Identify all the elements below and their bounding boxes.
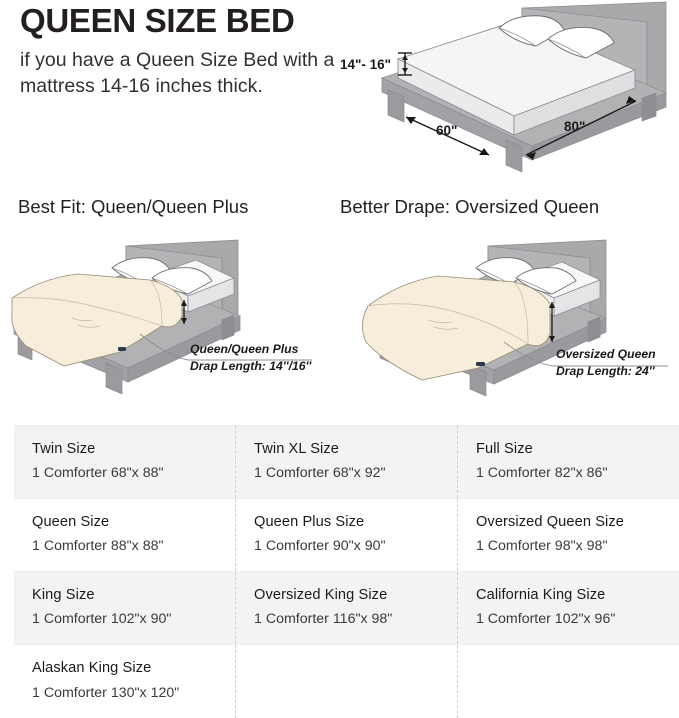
size-table-body: Twin Size 1 Comforter 68"x 88" Twin XL S… [14,426,679,718]
table-cell: Twin Size 1 Comforter 68"x 88" [14,426,236,499]
thickness-label: 14"- 16" [340,57,391,72]
size-detail: 1 Comforter 102"x 96" [476,608,679,630]
table-cell: Full Size 1 Comforter 82"x 86" [457,426,679,499]
length-label: 80" [564,119,585,134]
table-cell: Twin XL Size 1 Comforter 68"x 92" [236,426,458,499]
size-name: Queen Plus Size [254,512,457,533]
header-text: QUEEN SIZE BED if you have a Queen Size … [20,4,340,99]
size-detail: 1 Comforter 90"x 90" [254,535,457,557]
size-name: California King Size [476,585,679,606]
table-row: Alaskan King Size 1 Comforter 130"x 120" [14,645,679,718]
size-detail: 1 Comforter 88"x 88" [32,535,235,557]
size-detail: 1 Comforter 82"x 86" [476,462,679,484]
best-fit-bed-diagram: Queen/Queen Plus Drap Length: 14''/16'' [0,234,340,412]
size-name: Oversized King Size [254,585,457,606]
size-name: Full Size [476,439,679,460]
table-cell-empty [236,645,458,718]
table-cell: King Size 1 Comforter 102"x 90" [14,572,236,645]
page-title: QUEEN SIZE BED [20,4,340,39]
size-name: Alaskan King Size [32,658,235,679]
table-cell: Alaskan King Size 1 Comforter 130"x 120" [14,645,236,718]
comforter-size-table: Twin Size 1 Comforter 68"x 88" Twin XL S… [14,425,679,718]
table-cell: Oversized King Size 1 Comforter 116"x 98… [236,572,458,645]
callout-line-2: Drap Length: 24'' [556,364,656,378]
table-cell: Oversized Queen Size 1 Comforter 98"x 98… [457,499,679,572]
size-name: Twin XL Size [254,439,457,460]
size-name: Queen Size [32,512,235,533]
heading-best-fit: Best Fit: Queen/Queen Plus [18,196,248,218]
table-row: King Size 1 Comforter 102"x 90" Oversize… [14,572,679,645]
size-name: Twin Size [32,439,235,460]
table-row: Queen Size 1 Comforter 88"x 88" Queen Pl… [14,499,679,572]
table-cell: Queen Plus Size 1 Comforter 90"x 90" [236,499,458,572]
size-name: King Size [32,585,235,606]
queen-bed-dimensions-diagram: 14"- 16" 60" 80" [336,0,679,180]
better-drape-bed-diagram: Oversized Queen Drap Length: 24'' [338,234,679,412]
size-detail: 1 Comforter 68"x 88" [32,462,235,484]
size-detail: 1 Comforter 130"x 120" [32,682,235,704]
callout-line-1: Oversized Queen [556,347,656,361]
table-cell-empty [457,645,679,718]
heading-better-drape: Better Drape: Oversized Queen [340,196,599,218]
table-cell: Queen Size 1 Comforter 88"x 88" [14,499,236,572]
size-detail: 1 Comforter 116"x 98" [254,608,457,630]
callout-line-2: Drap Length: 14''/16'' [190,359,312,373]
page-subtitle: if you have a Queen Size Bed with a matt… [20,48,340,100]
size-name: Oversized Queen Size [476,512,679,533]
size-detail: 1 Comforter 102"x 90" [32,608,235,630]
width-label: 60" [436,123,457,138]
size-detail: 1 Comforter 68"x 92" [254,462,457,484]
table-row: Twin Size 1 Comforter 68"x 88" Twin XL S… [14,426,679,499]
size-detail: 1 Comforter 98"x 98" [476,535,679,557]
callout-line-1: Queen/Queen Plus [190,342,299,356]
section-headings: Best Fit: Queen/Queen Plus Better Drape:… [0,196,679,224]
table-cell: California King Size 1 Comforter 102"x 9… [457,572,679,645]
